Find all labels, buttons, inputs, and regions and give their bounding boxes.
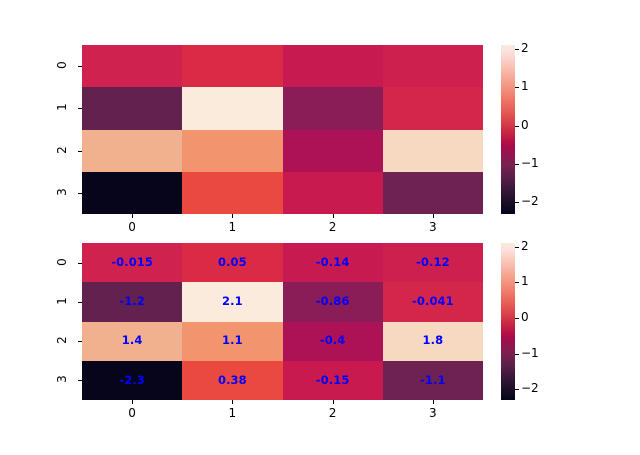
heatmap-cell — [82, 130, 182, 172]
heatmap-cell: 1.1 — [182, 322, 282, 361]
x-tick-mark — [333, 214, 334, 218]
y-tick-mark — [78, 108, 82, 109]
y-tick-label: 3 — [56, 182, 68, 202]
colorbar-tick-label: 2 — [521, 240, 529, 252]
y-tick-label: 2 — [56, 140, 68, 160]
heatmap-cell-value: -1.2 — [119, 296, 145, 308]
colorbar-tick-mark — [515, 49, 519, 50]
colorbar-tick-label: 0 — [521, 311, 529, 323]
y-tick-label: 3 — [56, 369, 68, 389]
heatmap-cell — [182, 172, 282, 214]
heatmap-cell — [82, 87, 182, 129]
y-tick-label: 0 — [56, 55, 68, 75]
y-tick-mark — [78, 66, 82, 67]
colorbar-tick-label: −2 — [521, 382, 539, 394]
colorbar-tick-label: −1 — [521, 347, 539, 359]
heatmap-cell: -0.86 — [283, 282, 383, 321]
colorbar-tick-mark — [515, 126, 519, 127]
heatmap-cell — [182, 130, 282, 172]
heatmap-cell-value: 1.8 — [423, 335, 444, 347]
x-tick-label: 3 — [421, 221, 445, 233]
colorbar-tick-label: −1 — [521, 157, 539, 169]
heatmap-cell: -0.015 — [82, 243, 182, 282]
colorbar-tick-label: 2 — [521, 42, 529, 54]
heatmap-cell: -0.4 — [283, 322, 383, 361]
colorbar-gradient-bottom — [501, 243, 515, 400]
heatmap-cell — [82, 172, 182, 214]
y-tick-mark — [78, 193, 82, 194]
heatmap-cell-value: 1.4 — [122, 335, 143, 347]
colorbar-tick-label: 1 — [521, 275, 529, 287]
heatmap-cell — [182, 45, 282, 87]
colorbar-tick-mark — [515, 282, 519, 283]
y-tick-label: 0 — [56, 252, 68, 272]
heatmap-cell-value: 0.05 — [218, 257, 247, 269]
heatmap-cell — [283, 172, 383, 214]
y-tick-label: 2 — [56, 330, 68, 350]
heatmap-cell — [82, 45, 182, 87]
y-tick-mark — [78, 263, 82, 264]
heatmap-cell-value: -0.15 — [316, 375, 350, 387]
x-tick-mark — [232, 400, 233, 404]
y-tick-mark — [78, 380, 82, 381]
heatmap-cell: 0.05 — [182, 243, 282, 282]
heatmap-cell — [182, 87, 282, 129]
heatmap-bottom: -0.0150.05-0.14-0.12-1.22.1-0.86-0.0411.… — [82, 243, 483, 400]
x-tick-mark — [433, 214, 434, 218]
x-tick-label: 0 — [120, 221, 144, 233]
colorbar-tick-mark — [515, 318, 519, 319]
x-tick-label: 1 — [220, 407, 244, 419]
heatmap-cell-value: -0.14 — [316, 257, 350, 269]
x-tick-label: 3 — [421, 407, 445, 419]
y-tick-mark — [78, 151, 82, 152]
heatmap-cell-value: -1.1 — [420, 375, 446, 387]
colorbar-gradient-top — [501, 45, 515, 214]
x-tick-mark — [132, 400, 133, 404]
heatmap-cell-value: 1.1 — [222, 335, 243, 347]
heatmap-cell — [383, 130, 483, 172]
heatmap-cell — [283, 87, 383, 129]
heatmap-cell-value: -0.12 — [416, 257, 450, 269]
colorbar-tick-label: −2 — [521, 195, 539, 207]
y-tick-mark — [78, 341, 82, 342]
y-tick-mark — [78, 302, 82, 303]
heatmap-cell-value: -0.4 — [320, 335, 346, 347]
heatmap-cell — [383, 45, 483, 87]
x-tick-label: 0 — [120, 407, 144, 419]
x-tick-mark — [132, 214, 133, 218]
colorbar-tick-mark — [515, 202, 519, 203]
heatmap-cell-value: 0.38 — [218, 375, 247, 387]
heatmap-cell — [383, 87, 483, 129]
y-tick-label: 1 — [56, 291, 68, 311]
heatmap-cell: 1.4 — [82, 322, 182, 361]
heatmap-cell — [283, 45, 383, 87]
x-tick-mark — [333, 400, 334, 404]
colorbar-tick-mark — [515, 389, 519, 390]
heatmap-cell: -0.12 — [383, 243, 483, 282]
colorbar-bottom: −2−1012 — [501, 243, 515, 400]
x-tick-label: 2 — [321, 221, 345, 233]
heatmap-cell: -0.15 — [283, 361, 383, 400]
heatmap-cell: -1.2 — [82, 282, 182, 321]
heatmap-cell — [283, 130, 383, 172]
colorbar-tick-mark — [515, 354, 519, 355]
heatmap-cell: 0.38 — [182, 361, 282, 400]
heatmap-cell-value: -0.86 — [316, 296, 350, 308]
x-tick-label: 2 — [321, 407, 345, 419]
x-tick-mark — [433, 400, 434, 404]
heatmap-cell: -2.3 — [82, 361, 182, 400]
colorbar-top: −2−1012 — [501, 45, 515, 214]
x-tick-mark — [232, 214, 233, 218]
heatmap-cell-value: -0.015 — [111, 257, 153, 269]
x-tick-label: 1 — [220, 221, 244, 233]
y-tick-label: 1 — [56, 97, 68, 117]
heatmap-cell: -0.14 — [283, 243, 383, 282]
colorbar-tick-mark — [515, 247, 519, 248]
heatmap-cell — [383, 172, 483, 214]
figure-canvas: 0123 0123 −2−1012 -0.0150.05-0.14-0.12-1… — [0, 0, 640, 455]
heatmap-cell-value: -2.3 — [119, 375, 145, 387]
heatmap-cell: -1.1 — [383, 361, 483, 400]
colorbar-tick-label: 0 — [521, 119, 529, 131]
heatmap-cell: -0.041 — [383, 282, 483, 321]
colorbar-tick-mark — [515, 87, 519, 88]
heatmap-cell-value: 2.1 — [222, 296, 243, 308]
heatmap-cell: 2.1 — [182, 282, 282, 321]
heatmap-top — [82, 45, 483, 214]
heatmap-cell: 1.8 — [383, 322, 483, 361]
colorbar-tick-label: 1 — [521, 80, 529, 92]
colorbar-tick-mark — [515, 164, 519, 165]
heatmap-cell-value: -0.041 — [412, 296, 454, 308]
